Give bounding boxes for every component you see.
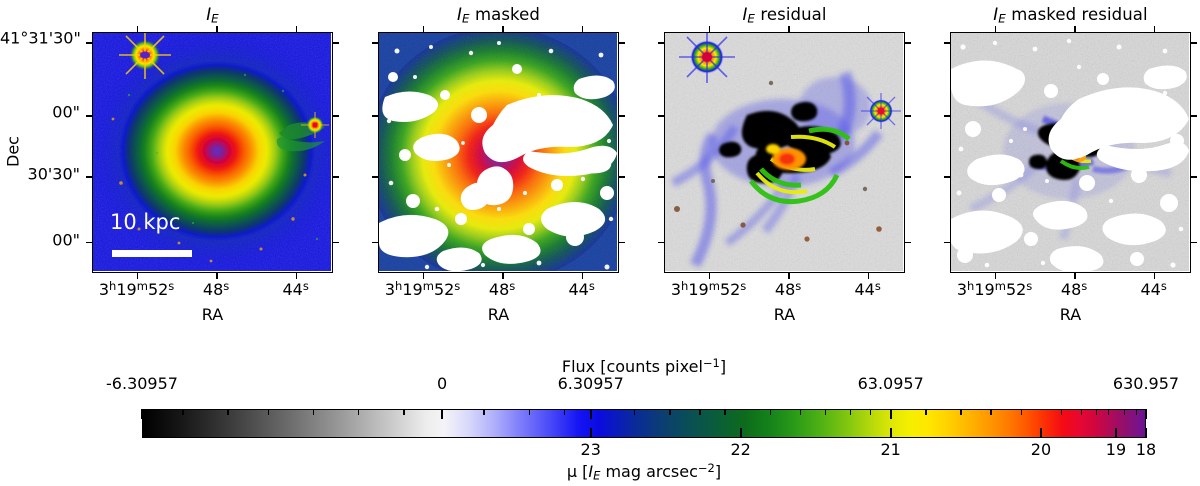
colorbar-minor-tick-22 xyxy=(1061,409,1063,415)
axis-label-ra-p3: RA xyxy=(950,305,1191,324)
colorbar-bottom-tick-2 xyxy=(890,428,892,438)
colorbar-top-tick-label-0: -6.30957 xyxy=(106,374,178,393)
panel-image-ie xyxy=(92,32,333,273)
colorbar-minor-tick-11 xyxy=(699,409,701,415)
panel-ie-residual[interactable]: IE residual xyxy=(664,32,905,273)
ie-residual-image-svg xyxy=(665,33,903,271)
xtick-label-p0-1: 48s xyxy=(203,279,229,299)
colorbar-minor-tick-2 xyxy=(268,409,270,415)
colorbar-bottom-tick-label-0: 23 xyxy=(581,440,601,459)
xtick-label-p0-0: 3h19m52s xyxy=(99,279,174,299)
ytick-right-p0-2 xyxy=(333,176,339,177)
colorbar-minor-tick-9 xyxy=(634,409,636,415)
colorbar-top-tick-label-4: 630.957 xyxy=(1113,374,1179,393)
colorbar-minor-tick-0 xyxy=(182,409,184,415)
ytick-right-p3-2 xyxy=(1191,176,1197,177)
colorbar-minor-tick-6 xyxy=(483,409,485,415)
colorbar-bottom-tick-label-5: 18 xyxy=(1136,440,1156,459)
colorbar-minor-tick-18 xyxy=(925,409,927,415)
figure-canvas: IE xyxy=(0,0,1200,486)
colorbar[interactable] xyxy=(142,409,1146,438)
xtick-top-p0-2 xyxy=(296,26,297,32)
colorbar-minor-tick-23 xyxy=(1081,409,1083,415)
colorbar-minor-tick-20 xyxy=(990,409,992,415)
ytick-right-p0-0 xyxy=(333,42,339,43)
colorbar-minor-tick-21 xyxy=(1021,409,1023,415)
panel-title-ie: IE xyxy=(92,5,333,26)
xtick-label-p1-1: 48s xyxy=(489,279,515,299)
xtick-top-p0-0 xyxy=(137,26,138,32)
ytick-right-p2-2 xyxy=(905,176,911,177)
panel-image-ie-masked-residual xyxy=(950,32,1191,273)
ytick-left-p1-3 xyxy=(372,242,378,243)
ytick-left-p1-1 xyxy=(372,115,378,116)
ytick-right-p1-1 xyxy=(619,115,625,116)
ytick-left-p0-1 xyxy=(86,115,92,116)
scalebar-label-ie: 10 kpc xyxy=(110,210,180,234)
ytick-label-3: 00" xyxy=(0,231,80,250)
colorbar-gradient xyxy=(143,410,1145,437)
ytick-left-p3-0 xyxy=(944,42,950,43)
colorbar-minor-tick-12 xyxy=(724,409,726,415)
ytick-right-p1-0 xyxy=(619,42,625,43)
colorbar-bottom-tick-1 xyxy=(740,428,742,438)
colorbar-bottom-tick-label-3: 20 xyxy=(1031,440,1051,459)
ytick-left-p0-0 xyxy=(86,42,92,43)
xtick-label-p2-1: 48s xyxy=(775,279,801,299)
colorbar-bottom-tick-5 xyxy=(1145,428,1147,438)
xtick-top-p0-1 xyxy=(216,26,217,32)
colorbar-minor-tick-26 xyxy=(1124,409,1126,415)
colorbar-top-tick-label-2: 6.30957 xyxy=(558,374,624,393)
panel-image-ie-masked xyxy=(378,32,619,273)
xtick-top-p2-1 xyxy=(788,26,789,32)
ytick-left-p3-1 xyxy=(944,115,950,116)
colorbar-bottom-tick-label-2: 21 xyxy=(880,440,900,459)
ytick-right-p3-3 xyxy=(1191,242,1197,243)
xtick-top-p1-0 xyxy=(423,26,424,32)
ytick-right-p3-0 xyxy=(1191,42,1197,43)
xtick-label-p3-0: 3h19m52s xyxy=(957,279,1032,299)
colorbar-minor-tick-3 xyxy=(313,409,315,415)
ytick-label-1: 00" xyxy=(0,103,80,122)
xtick-top-p3-1 xyxy=(1074,26,1075,32)
panel-image-ie-residual xyxy=(664,32,905,273)
colorbar-minor-tick-19 xyxy=(960,409,962,415)
ytick-left-p3-3 xyxy=(944,242,950,243)
axis-label-ra-p2: RA xyxy=(664,305,905,324)
xtick-top-p3-0 xyxy=(995,26,996,32)
ytick-left-p1-0 xyxy=(372,42,378,43)
xtick-top-p1-2 xyxy=(582,26,583,32)
colorbar-minor-tick-25 xyxy=(1108,409,1110,415)
ytick-right-p2-3 xyxy=(905,242,911,243)
ytick-right-p1-2 xyxy=(619,176,625,177)
ytick-left-p2-0 xyxy=(658,42,664,43)
ytick-right-p1-3 xyxy=(619,242,625,243)
colorbar-bottom-tick-label-1: 22 xyxy=(730,440,750,459)
colorbar-minor-tick-14 xyxy=(800,409,802,415)
xtick-label-p1-2: 44s xyxy=(568,279,594,299)
ytick-left-p2-3 xyxy=(658,242,664,243)
ytick-left-p1-2 xyxy=(372,176,378,177)
ie-masked-image-svg xyxy=(379,33,617,271)
xtick-top-p2-0 xyxy=(709,26,710,32)
scalebar-line-ie xyxy=(112,250,192,257)
panel-ie[interactable]: IE xyxy=(92,32,333,273)
colorbar-minor-tick-7 xyxy=(529,409,531,415)
xtick-label-p2-0: 3h19m52s xyxy=(671,279,746,299)
ytick-label-0: 41°31'30" xyxy=(0,29,80,48)
colorbar-minor-tick-8 xyxy=(564,409,566,415)
axis-label-ra-p1: RA xyxy=(378,305,619,324)
xtick-label-p3-2: 44s xyxy=(1140,279,1166,299)
colorbar-top-tick-2 xyxy=(590,409,592,419)
panel-title-ie-masked-residual: IE masked residual xyxy=(950,5,1191,26)
colorbar-title-mu: μ [IE mag arcsec−2] xyxy=(567,461,721,483)
colorbar-minor-tick-16 xyxy=(850,409,852,415)
colorbar-bottom-tick-0 xyxy=(590,428,592,438)
colorbar-minor-tick-10 xyxy=(669,409,671,415)
ytick-right-p0-3 xyxy=(333,242,339,243)
axis-label-ra-p0: RA xyxy=(92,305,333,324)
ytick-right-p0-1 xyxy=(333,115,339,116)
ytick-left-p0-3 xyxy=(86,242,92,243)
colorbar-top-tick-0 xyxy=(141,409,143,419)
axis-label-dec: Dec xyxy=(4,122,23,182)
xtick-label-p2-2: 44s xyxy=(854,279,880,299)
panel-title-ie-masked: IE masked xyxy=(378,5,619,26)
xtick-top-p2-2 xyxy=(868,26,869,32)
colorbar-minor-tick-24 xyxy=(1096,409,1098,415)
ie-masked-residual-image-svg xyxy=(951,33,1189,271)
colorbar-minor-tick-17 xyxy=(870,409,872,415)
ie-image-svg xyxy=(93,33,331,271)
xtick-top-p1-1 xyxy=(502,26,503,32)
ytick-right-p2-1 xyxy=(905,115,911,116)
ytick-left-p3-2 xyxy=(944,176,950,177)
ytick-left-p2-1 xyxy=(658,115,664,116)
colorbar-top-tick-4 xyxy=(1145,409,1147,419)
colorbar-bottom-tick-label-4: 19 xyxy=(1106,440,1126,459)
colorbar-minor-tick-13 xyxy=(770,409,772,415)
ytick-left-p2-2 xyxy=(658,176,664,177)
xtick-label-p3-1: 48s xyxy=(1061,279,1087,299)
ytick-right-p2-0 xyxy=(905,42,911,43)
panel-title-ie-residual: IE residual xyxy=(664,5,905,26)
colorbar-top-tick-1 xyxy=(441,409,443,419)
colorbar-minor-tick-1 xyxy=(227,409,229,415)
panel-ie-masked-residual[interactable]: IE masked residual xyxy=(950,32,1191,273)
colorbar-minor-tick-5 xyxy=(403,409,405,415)
colorbar-minor-tick-27 xyxy=(1136,409,1138,415)
colorbar-bottom-tick-4 xyxy=(1115,428,1117,438)
ytick-left-p0-2 xyxy=(86,176,92,177)
xtick-top-p3-2 xyxy=(1154,26,1155,32)
ytick-right-p3-1 xyxy=(1191,115,1197,116)
xtick-label-p1-0: 3h19m52s xyxy=(385,279,460,299)
colorbar-bottom-tick-3 xyxy=(1040,428,1042,438)
colorbar-top-tick-3 xyxy=(890,409,892,419)
colorbar-top-tick-label-1: 0 xyxy=(437,374,447,393)
colorbar-minor-tick-4 xyxy=(358,409,360,415)
panel-ie-masked[interactable]: IE masked xyxy=(378,32,619,273)
xtick-label-p0-2: 44s xyxy=(282,279,308,299)
colorbar-minor-tick-15 xyxy=(825,409,827,415)
colorbar-top-tick-label-3: 63.0957 xyxy=(858,374,924,393)
